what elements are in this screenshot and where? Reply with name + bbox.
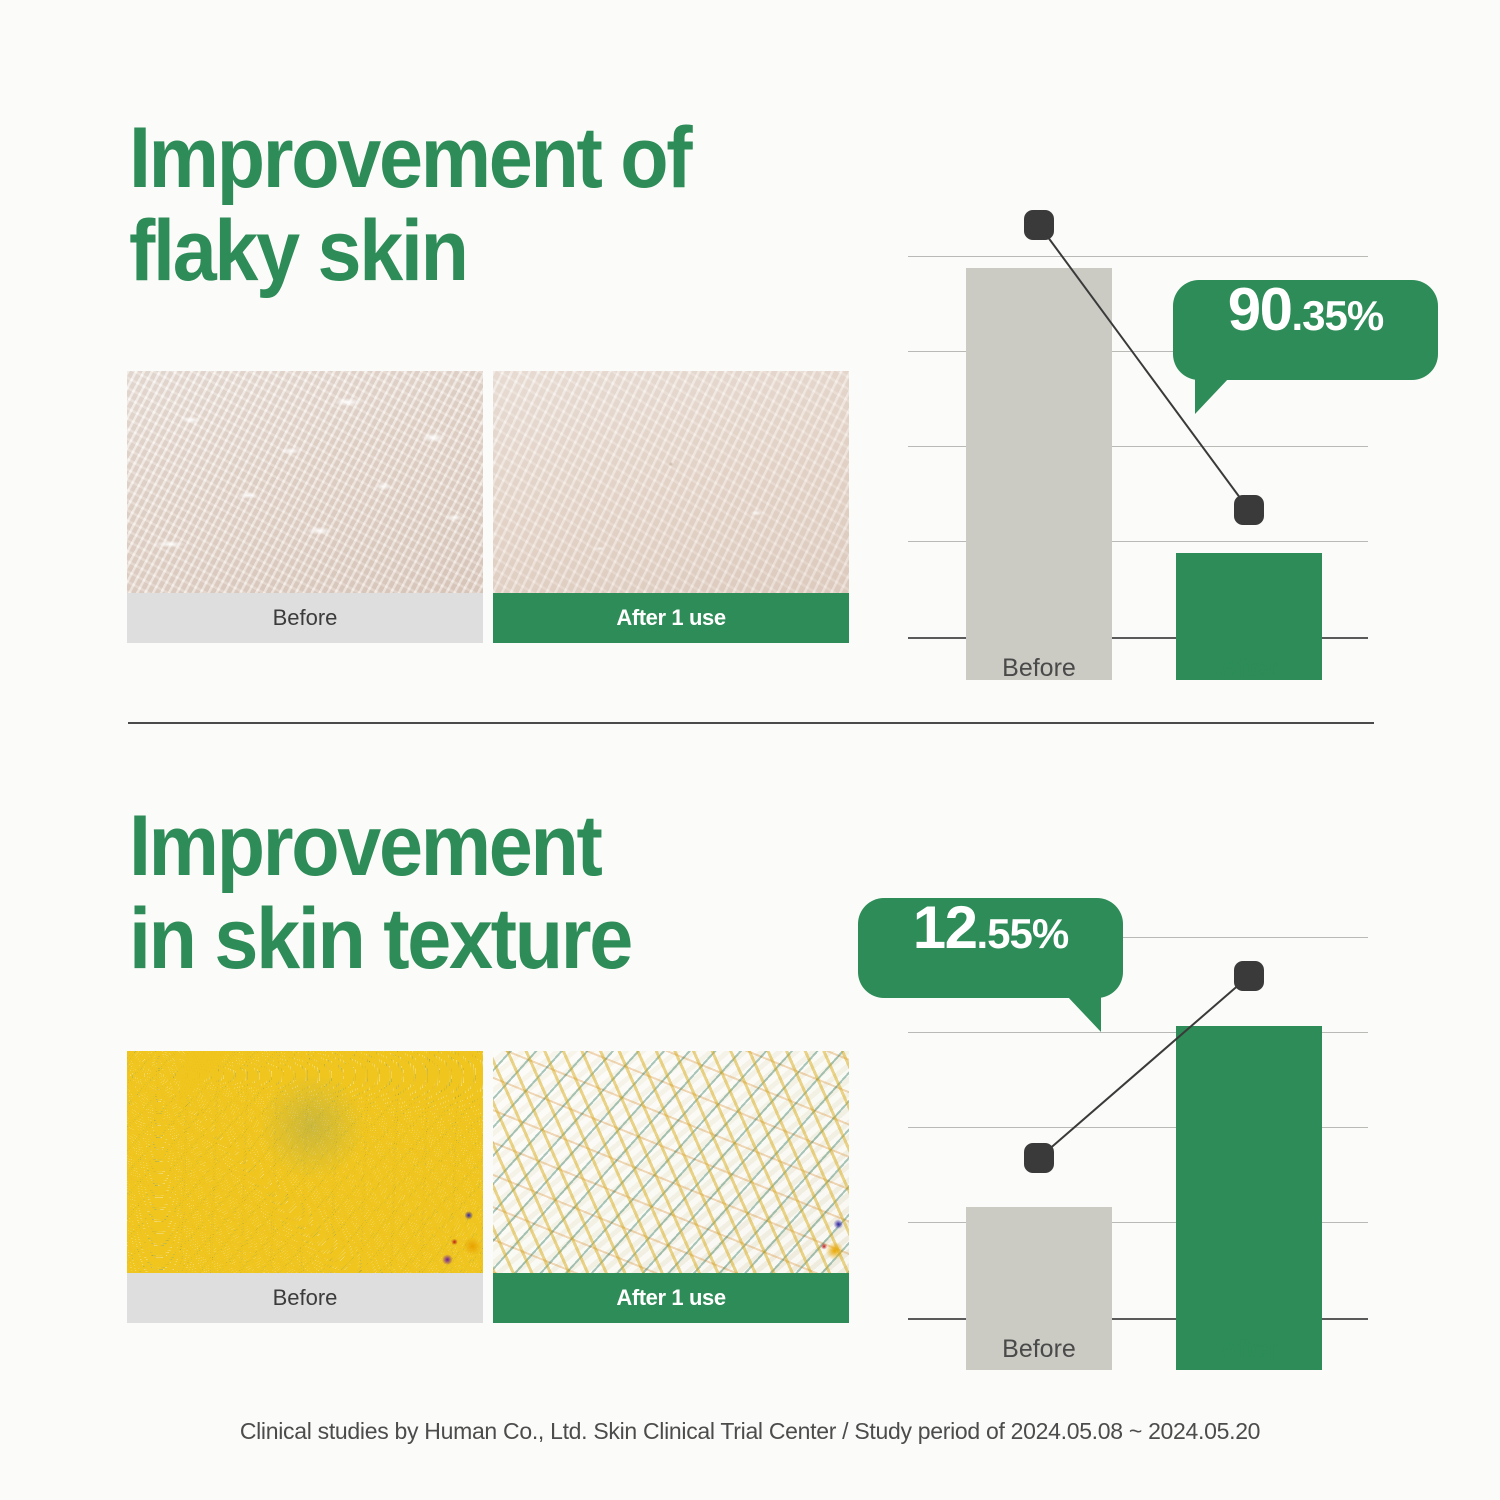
- callout-tail-icon: [1195, 378, 1229, 414]
- data-point-marker-before: [1024, 1143, 1054, 1173]
- photo-caption-after: After 1 use: [493, 593, 849, 643]
- photo-card-before-flaky: Before: [127, 371, 483, 643]
- section-title-flaky-skin: Improvement of flaky skin: [129, 112, 690, 298]
- photo-card-after-flaky: After 1 use: [493, 371, 849, 643]
- callout-percentage-flaky: 90 .35%: [1173, 280, 1438, 380]
- axis-label-before: Before: [966, 654, 1112, 683]
- callout-value-integer: 90: [1228, 280, 1292, 340]
- photo-pair-flaky-skin: Before After 1 use: [127, 371, 849, 643]
- axis-label-before: Before: [966, 1335, 1112, 1364]
- chart-flaky-skin: Before After 90 .35%: [908, 210, 1368, 680]
- callout-tail-icon: [1067, 996, 1101, 1032]
- photo-caption-before: Before: [127, 1273, 483, 1323]
- axis-label-after: After: [1176, 1335, 1322, 1364]
- callout-percentage-texture: 12 .55%: [858, 898, 1123, 998]
- data-point-marker-after: [1234, 961, 1264, 991]
- axis-label-after: After: [1176, 654, 1322, 683]
- data-point-marker-before: [1024, 210, 1054, 240]
- photo-caption-after: After 1 use: [493, 1273, 849, 1323]
- data-point-marker-after: [1234, 495, 1264, 525]
- section-title-skin-texture: Improvement in skin texture: [129, 800, 631, 986]
- photo-pair-skin-texture: Before After 1 use: [127, 1051, 849, 1323]
- chart-skin-texture: Before After 12 .55%: [908, 890, 1368, 1370]
- section-divider: [128, 722, 1374, 724]
- skin-photo-after-flaky: [493, 371, 849, 593]
- callout-value-decimal: .35%: [1292, 295, 1384, 337]
- photo-card-before-texture: Before: [127, 1051, 483, 1323]
- photo-caption-before: Before: [127, 593, 483, 643]
- photo-card-after-texture: After 1 use: [493, 1051, 849, 1323]
- skin-photo-before-flaky: [127, 371, 483, 593]
- texture-map-after: [493, 1051, 849, 1273]
- texture-map-before: [127, 1051, 483, 1273]
- callout-value-decimal: .55%: [977, 913, 1069, 955]
- callout-value-integer: 12: [913, 898, 977, 958]
- footer-clinical-note: Clinical studies by Human Co., Ltd. Skin…: [0, 1418, 1500, 1445]
- infographic-page: Improvement of flaky skin Before After 1…: [0, 0, 1500, 1500]
